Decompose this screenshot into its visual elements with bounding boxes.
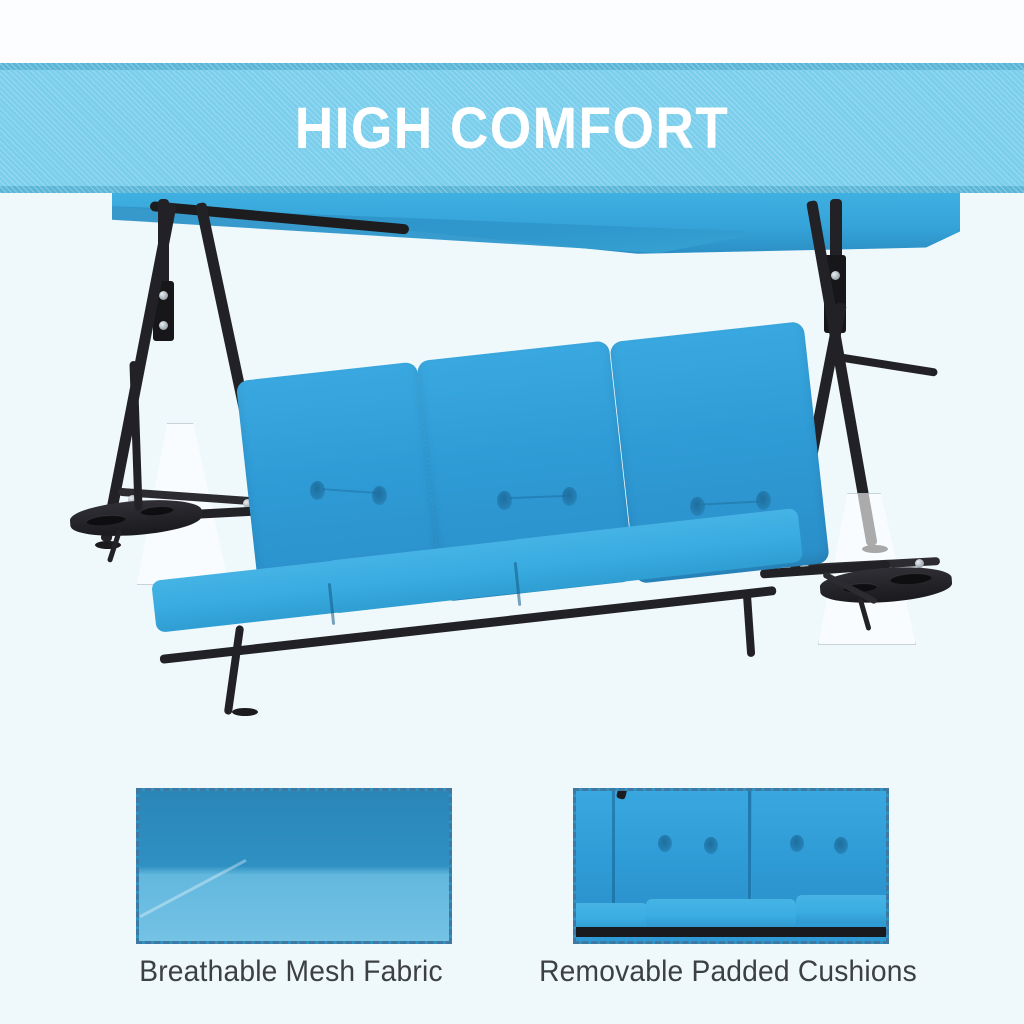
cushion-swatch (576, 791, 886, 941)
top-margin (0, 0, 1024, 63)
bench-right-drop-leg (743, 591, 756, 657)
cushion-swatch-panel-right (752, 788, 889, 909)
cushion-swatch-tuft-1 (658, 835, 672, 852)
backrest-right-tuft-1 (690, 497, 705, 516)
cushion-swatch-tuft-4 (834, 837, 848, 854)
product-feature-image: HIGH COMFORT (0, 0, 1024, 1024)
detail-thumb-cushions[interactable] (573, 788, 889, 944)
cushion-swatch-seat-left (573, 903, 648, 929)
bench-left-drop-foot (232, 708, 258, 716)
detail-thumbnails: Breathable Mesh Fabric Removable Padded (0, 773, 1024, 1024)
cushion-swatch-seam-2 (748, 788, 751, 913)
bench-left-drop-leg (224, 625, 244, 715)
detail-caption-mesh: Breathable Mesh Fabric (94, 955, 489, 989)
detail-thumb-mesh[interactable] (136, 788, 452, 944)
backrest-center-tuft-1 (497, 491, 512, 510)
headline-text: HIGH COMFORT (41, 63, 983, 193)
left-post-bolt-lower (159, 321, 168, 330)
product-scene (0, 193, 1024, 773)
right-top-connector (838, 353, 938, 377)
mesh-fabric-swatch (139, 791, 449, 941)
cushion-swatch-tuft-3 (790, 835, 804, 852)
right-post-bolt-upper (831, 271, 840, 280)
cushion-swatch-tuft-2 (704, 837, 718, 854)
cushion-swatch-frame-shadow (576, 927, 889, 937)
detail-caption-cushions: Removable Padded Cushions (531, 955, 926, 989)
backrest-left-tuft-1 (310, 481, 325, 500)
left-post-bolt-upper (159, 291, 168, 300)
cushion-swatch-panel-center (616, 788, 748, 913)
cushion-swatch-seat-right (796, 895, 889, 923)
headline-banner: HIGH COMFORT (0, 63, 1024, 193)
backrest-left-tuft-2 (372, 486, 387, 505)
cushion-swatch-seam-1 (612, 788, 615, 917)
cushion-swatch-seat-center (646, 899, 796, 927)
